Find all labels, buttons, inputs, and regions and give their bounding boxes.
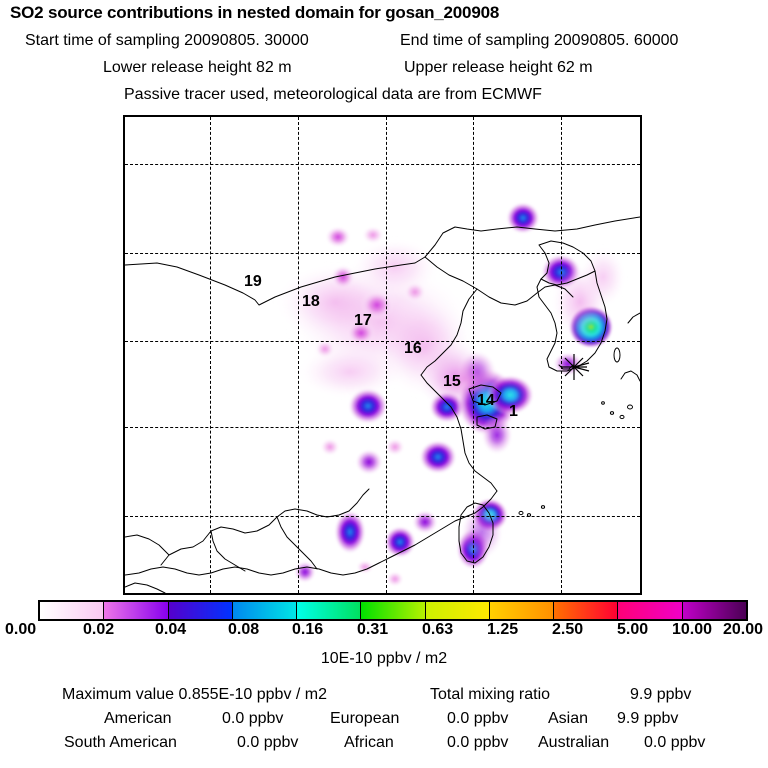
map-label-18: 18	[302, 294, 320, 310]
colorbar-tick-7: 1.25	[487, 621, 518, 639]
tracer-info-cell-0: Passive tracer used, meteorological data…	[124, 86, 542, 104]
release-height-cell-1: Upper release height 62 m	[404, 59, 593, 77]
colorbar-tick-2: 0.04	[155, 621, 186, 639]
colorbar-unit-label: 10E-10 ppbv / m2	[0, 650, 768, 668]
map-label-16: 16	[404, 341, 422, 357]
gosan-receptor-star	[561, 354, 589, 380]
contribution-cell-0: American	[104, 710, 172, 728]
map-plot-area[interactable]	[123, 115, 642, 595]
colorbar-segment-3	[233, 602, 297, 619]
colorbar-segment-0	[40, 602, 104, 619]
colorbar-segment-4	[297, 602, 361, 619]
max-value-cell-2: 9.9 ppbv	[630, 686, 691, 704]
release-height-cell-0: Lower release height 82 m	[103, 59, 292, 77]
sampling-time-cell-1: End time of sampling 20090805. 60000	[400, 32, 678, 50]
colorbar-tick-1: 0.02	[83, 621, 114, 639]
contribution-cell-1: 0.0 ppbv	[222, 710, 283, 728]
sampling-time-cell-0: Start time of sampling 20090805. 30000	[25, 32, 309, 50]
contribution-cell-3: 0.0 ppbv	[447, 710, 508, 728]
colorbar-segment-10	[683, 602, 746, 619]
contribution-cell-4: Asian	[548, 710, 588, 728]
colorbar-tick-3: 0.08	[228, 621, 259, 639]
colorbar-tick-8: 2.50	[552, 621, 583, 639]
colorbar-tick-9: 5.00	[617, 621, 648, 639]
contribution-cell-3: 0.0 ppbv	[447, 734, 508, 752]
colorbar-tick-labels: 0.000.020.040.080.160.310.631.252.505.00…	[0, 621, 768, 641]
receptor-marker-layer	[125, 117, 640, 593]
colorbar-tick-0: 0.00	[5, 621, 36, 639]
colorbar-segment-6	[426, 602, 490, 619]
colorbar-segment-9	[618, 602, 682, 619]
colorbar-segment-5	[361, 602, 425, 619]
map-label-14: 14	[477, 393, 495, 409]
map-label-17: 17	[354, 313, 372, 329]
colorbar-segment-7	[490, 602, 554, 619]
contribution-cell-2: European	[330, 710, 399, 728]
colorbar-tick-11: 20.00	[723, 621, 763, 639]
map-label-15: 15	[443, 374, 461, 390]
map-label-1: 1	[509, 404, 518, 420]
colorbar-tick-4: 0.16	[292, 621, 323, 639]
colorbar-segment-8	[554, 602, 618, 619]
map-label-19: 19	[244, 274, 262, 290]
max-value-cell-1: Total mixing ratio	[430, 686, 550, 704]
colorbar-tick-10: 10.00	[672, 621, 712, 639]
colorbar-tick-5: 0.31	[357, 621, 388, 639]
page-title: SO2 source contributions in nested domai…	[10, 3, 499, 23]
colorbar-segment-2	[169, 602, 233, 619]
contribution-cell-5: 9.9 ppbv	[617, 710, 678, 728]
max-value-cell-0: Maximum value 0.855E-10 ppbv / m2	[62, 686, 327, 704]
contribution-cell-5: 0.0 ppbv	[644, 734, 705, 752]
colorbar-segment-1	[104, 602, 168, 619]
contribution-cell-1: 0.0 ppbv	[237, 734, 298, 752]
contribution-cell-2: African	[344, 734, 394, 752]
contribution-cell-0: South American	[64, 734, 177, 752]
colorbar-tick-6: 0.63	[422, 621, 453, 639]
colorbar[interactable]	[38, 600, 748, 621]
contribution-cell-4: Australian	[538, 734, 609, 752]
